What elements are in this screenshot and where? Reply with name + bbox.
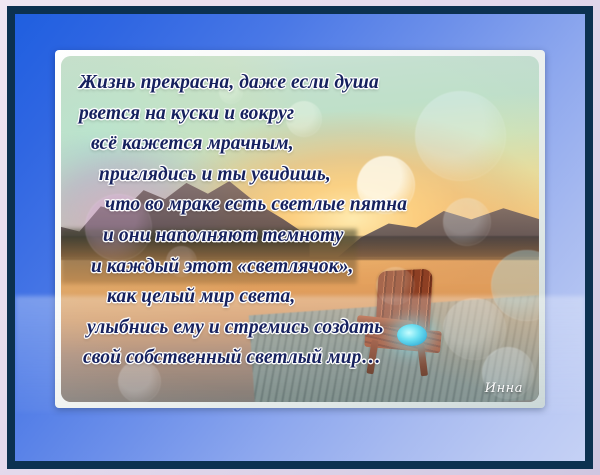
quote-card: Жизнь прекрасна, даже если душа рвется н… — [0, 0, 600, 475]
quote-line: всё кажется мрачным, — [91, 129, 529, 160]
quote-line: свой собственный светлый мир… — [83, 343, 529, 374]
artist-signature: Инна — [485, 381, 523, 396]
quote-line: приглядись и ты увидишь, — [99, 160, 529, 191]
quote-line: и каждый этот «светлячок», — [91, 252, 529, 283]
photo-scene: Жизнь прекрасна, даже если душа рвется н… — [61, 56, 539, 402]
quote-text-block: Жизнь прекрасна, даже если душа рвется н… — [61, 56, 539, 402]
quote-line: рвется на куски и вокруг — [79, 99, 529, 130]
quote-line: как целый мир света, — [107, 282, 529, 313]
quote-line: что во мраке есть светлые пятна — [105, 190, 529, 221]
quote-line: Жизнь прекрасна, даже если душа — [79, 68, 529, 99]
photo-mat: Жизнь прекрасна, даже если душа рвется н… — [55, 50, 545, 408]
quote-line: и они наполняют темноту — [103, 221, 529, 252]
frame-blue-mat: Жизнь прекрасна, даже если душа рвется н… — [15, 14, 585, 461]
quote-line: улыбнись ему и стремись создать — [87, 313, 529, 344]
